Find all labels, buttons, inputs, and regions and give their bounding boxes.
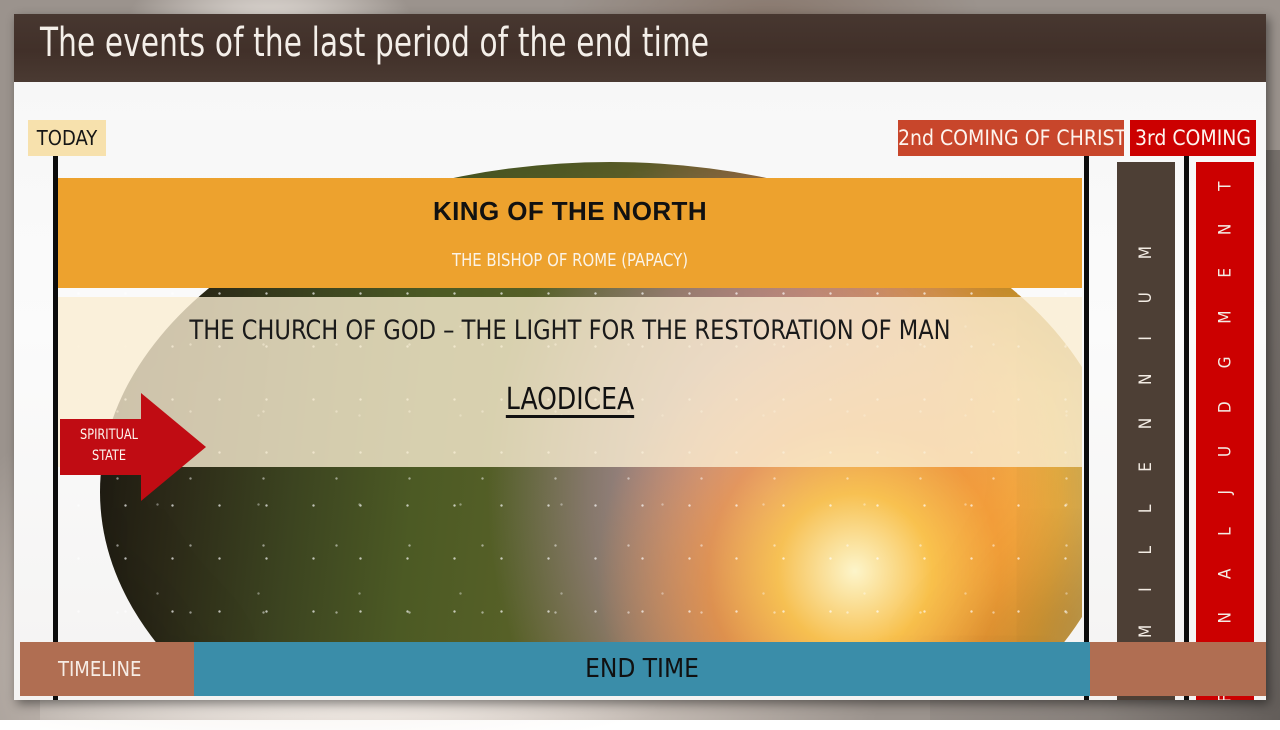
spiritual-state-line-2: STATE — [65, 446, 153, 467]
church-era-laodicea: LAODICEA — [94, 382, 1046, 417]
king-of-the-north-title: KING OF THE NORTH — [58, 196, 1082, 227]
marker-label-second-coming: 2nd COMING OF CHRIST — [898, 120, 1124, 156]
marker-line-third-coming — [1184, 156, 1189, 700]
slide-canvas: KING OF THE NORTH THE BISHOP OF ROME (PA… — [14, 82, 1266, 700]
marker-label-today: TODAY — [28, 120, 106, 156]
spiritual-state-label: SPIRITUAL STATE — [65, 425, 153, 467]
spiritual-state-line-1: SPIRITUAL — [65, 425, 153, 446]
timeline-segment-end-time: END TIME — [194, 642, 1090, 696]
page-title: The events of the last period of the end… — [40, 20, 709, 66]
spiritual-state-arrow-icon: SPIRITUAL STATE — [60, 393, 206, 501]
timeline-tail-segment — [1090, 642, 1266, 696]
timeline-strip: TIMELINE END TIME — [20, 642, 1266, 696]
marker-line-today — [53, 156, 58, 700]
marker-label-third-coming: 3rd COMING — [1130, 120, 1256, 156]
timeline-legend-label: TIMELINE — [20, 642, 194, 696]
final-judgment-label: F I N A L J U D G M E N T — [1215, 168, 1235, 700]
final-judgment-column: F I N A L J U D G M E N T — [1196, 162, 1254, 700]
king-of-the-north-band: KING OF THE NORTH THE BISHOP OF ROME (PA… — [58, 178, 1082, 288]
church-of-god-band: THE CHURCH OF GOD – THE LIGHT FOR THE RE… — [58, 297, 1082, 467]
presentation-slide: The events of the last period of the end… — [14, 14, 1266, 700]
church-of-god-title: THE CHURCH OF GOD – THE LIGHT FOR THE RE… — [94, 315, 1046, 346]
marker-line-second-coming — [1084, 156, 1089, 700]
millennium-label: M I L L E N N I U M — [1136, 232, 1156, 638]
slide-title-bar: The events of the last period of the end… — [14, 14, 1266, 82]
king-of-the-north-subtitle: THE BISHOP OF ROME (PAPACY) — [99, 250, 1041, 271]
millennium-column: M I L L E N N I U M — [1117, 162, 1175, 700]
